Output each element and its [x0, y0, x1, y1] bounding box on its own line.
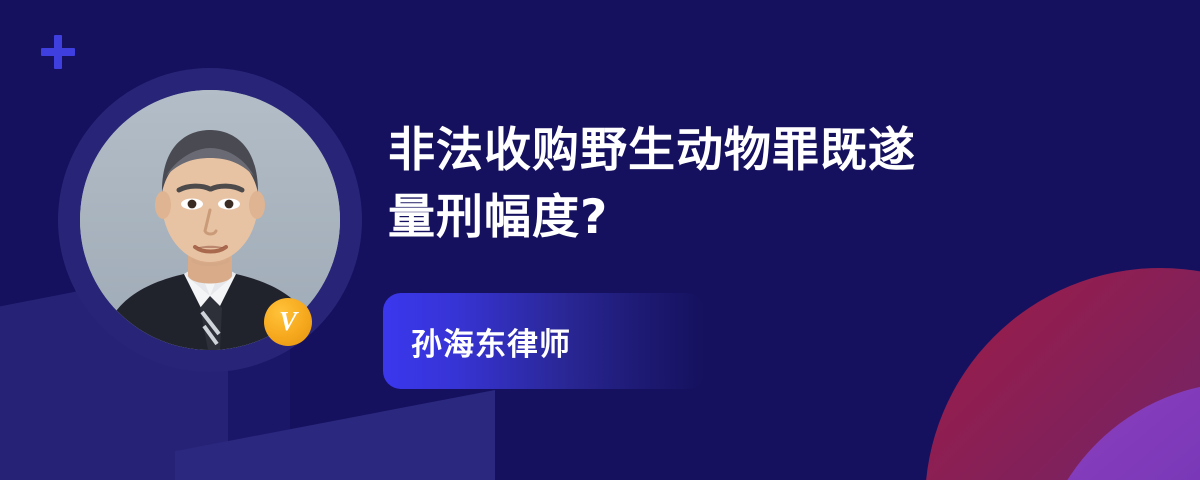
avatar[interactable]: V — [58, 68, 362, 372]
author-name-badge[interactable]: 孙海东律师 — [383, 293, 705, 389]
plus-icon — [41, 35, 75, 69]
verified-badge-glyph: V — [279, 308, 297, 335]
lawyer-qa-banner: V 非法收购野生动物罪既遂 量刑幅度? 孙海东律师 — [0, 0, 1200, 480]
author-name-label: 孙海东律师 — [383, 319, 571, 364]
verified-badge-icon: V — [264, 298, 312, 346]
page-title: 非法收购野生动物罪既遂 量刑幅度? — [388, 118, 1128, 251]
headline-block: 非法收购野生动物罪既遂 量刑幅度? — [388, 118, 1128, 251]
